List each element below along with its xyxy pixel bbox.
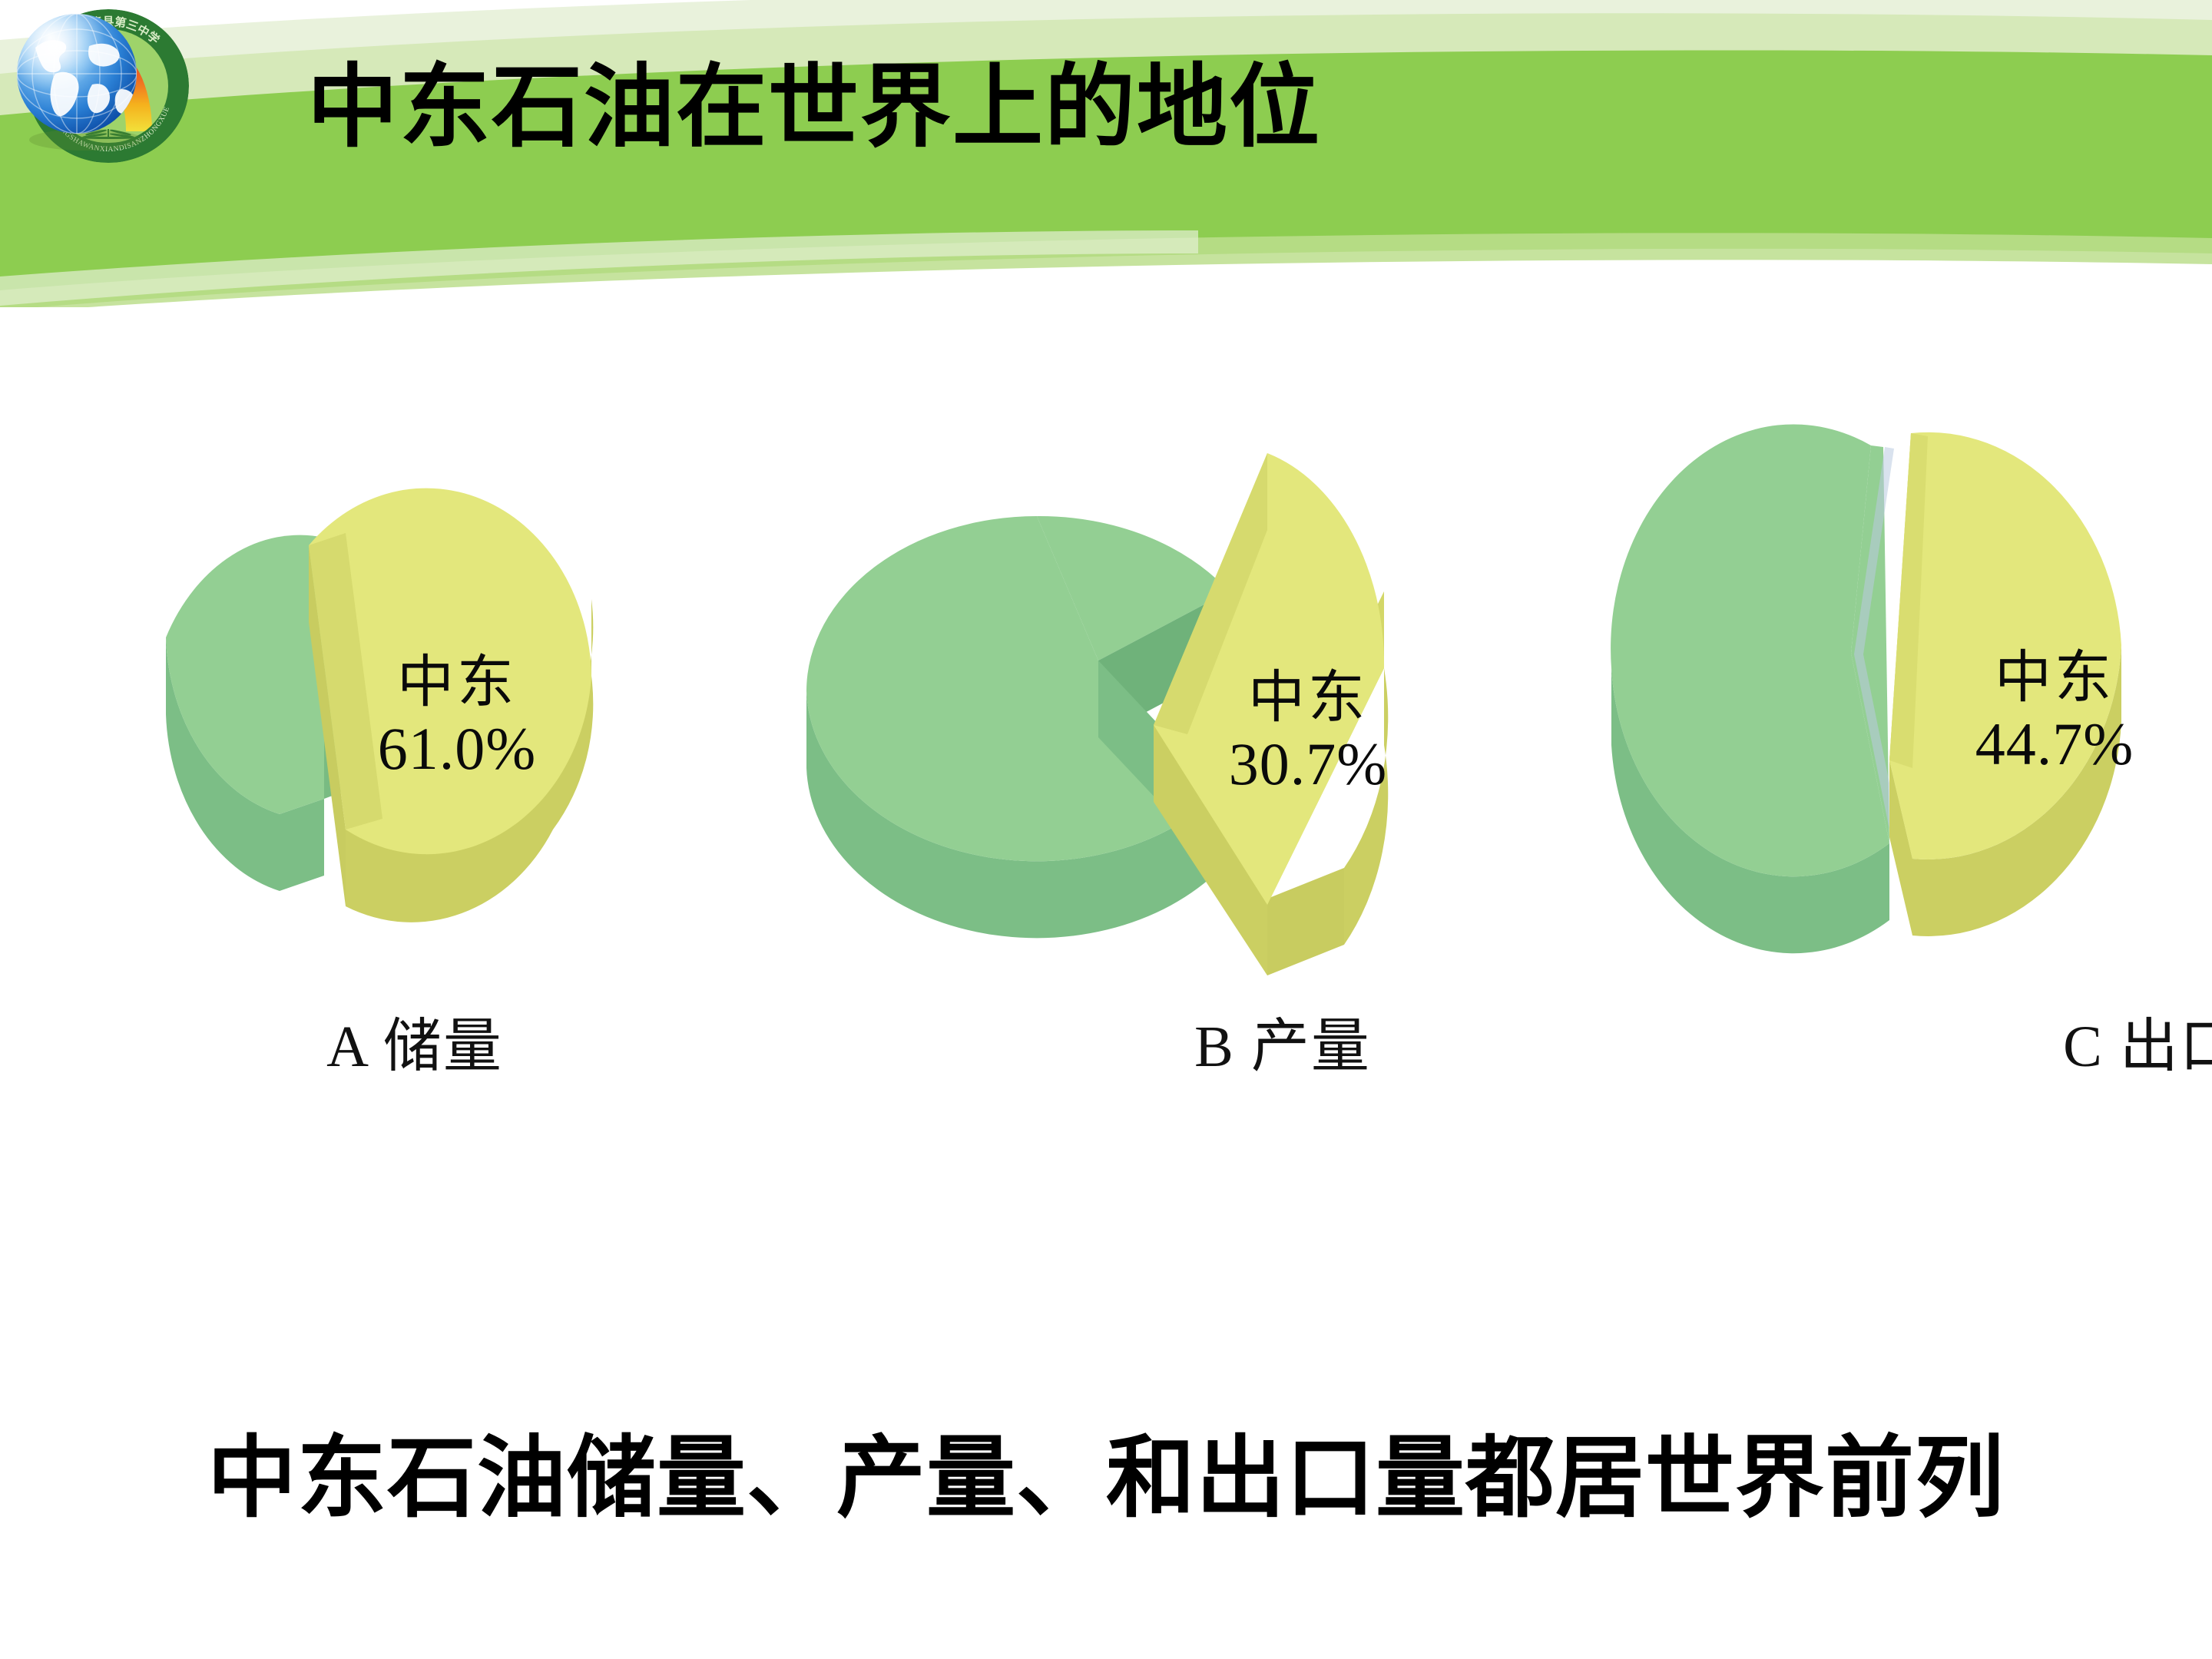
pie-b-label: 中东 30.7%: [1181, 667, 1435, 797]
pie-chart-a: 中东 61.0%: [23, 361, 714, 998]
pie-c-region-label: 中东: [1928, 647, 2181, 710]
pie-a-label: 中东 61.0%: [330, 651, 584, 782]
pie-chart-c: 中东 44.7%: [1528, 361, 2212, 998]
pie-chart-b: 中东 30.7%: [760, 361, 1452, 998]
pie-c-slice-other: [1611, 424, 1889, 953]
pie-a-region-label: 中东: [330, 651, 584, 715]
chart-a-storage: 中东 61.0% A 储量: [23, 361, 714, 1129]
chart-c-export: 中东 44.7% C 出口量: [1528, 361, 2212, 1129]
charts-row: 中东 61.0% A 储量: [0, 361, 2212, 1129]
header-banner: 新疆沙湾县第三中学 XINJIANGSHAWANXIANDISANZHONGXU…: [0, 0, 2212, 307]
chart-b-caption: B 产量: [937, 998, 1628, 1083]
pie-b-percent-label: 30.7%: [1181, 730, 1435, 797]
footer-statement: 中东石油储量、产量、和出口量都居世界前列: [0, 1406, 2212, 1535]
page-title: 中东石油在世界上的地位: [307, 60, 1767, 155]
chart-b-production: 中东 30.7% B 产量: [760, 361, 1452, 1129]
pie-b-region-label: 中东: [1181, 667, 1435, 730]
pie-c-percent-label: 44.7%: [1928, 710, 2181, 777]
pie-a-percent-label: 61.0%: [330, 715, 584, 782]
globe-icon: [0, 0, 158, 158]
chart-c-caption: C 出口量: [1836, 998, 2212, 1083]
pie-c-label: 中东 44.7%: [1928, 647, 2181, 777]
chart-a-caption: A 储量: [69, 998, 760, 1083]
